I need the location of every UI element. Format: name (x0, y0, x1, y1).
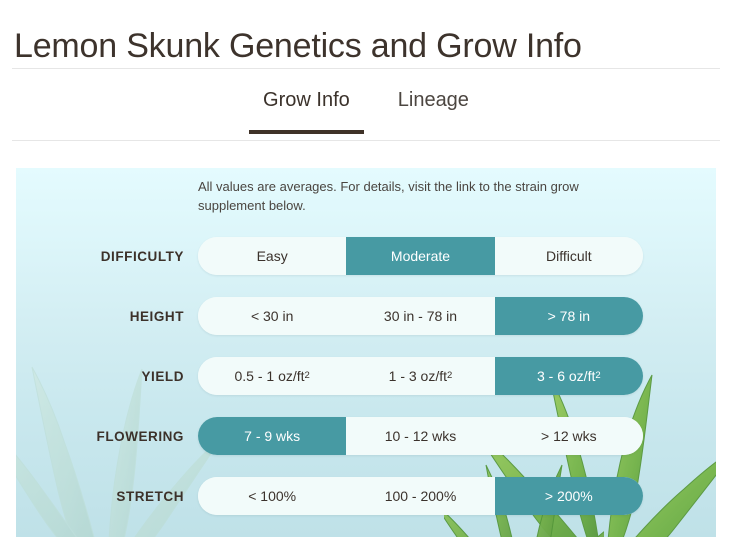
table-row: STRETCH < 100% 100 - 200% > 200% (16, 466, 716, 526)
panel-note: All values are averages. For details, vi… (198, 178, 628, 216)
segment-yield-0-text: 0.5 - 1 oz/ft (234, 368, 304, 384)
segment-difficulty-2[interactable]: Difficult (495, 237, 643, 275)
segment-yield-2-text: 3 - 6 oz/ft (537, 368, 595, 384)
segment-stretch-1[interactable]: 100 - 200% (346, 477, 494, 515)
table-row: YIELD 0.5 - 1 oz/ft2 1 - 3 oz/ft2 3 - 6 … (16, 346, 716, 406)
segment-bar-yield: 0.5 - 1 oz/ft2 1 - 3 oz/ft2 3 - 6 oz/ft2 (198, 357, 643, 395)
table-row: FLOWERING 7 - 9 wks 10 - 12 wks > 12 wks (16, 406, 716, 466)
segment-stretch-2[interactable]: > 200% (495, 477, 643, 515)
tab-lineage[interactable]: Lineage (374, 69, 493, 134)
segment-flowering-2[interactable]: > 12 wks (495, 417, 643, 455)
row-label-stretch: STRETCH (16, 489, 198, 504)
segment-stretch-0[interactable]: < 100% (198, 477, 346, 515)
segment-difficulty-0[interactable]: Easy (198, 237, 346, 275)
segment-difficulty-1[interactable]: Moderate (346, 237, 494, 275)
segment-bar-stretch: < 100% 100 - 200% > 200% (198, 477, 643, 515)
segment-bar-flowering: 7 - 9 wks 10 - 12 wks > 12 wks (198, 417, 643, 455)
tab-divider (12, 140, 720, 141)
grow-info-panel: All values are averages. For details, vi… (16, 168, 716, 537)
page-title: Lemon Skunk Genetics and Grow Info (14, 27, 582, 66)
segment-flowering-1[interactable]: 10 - 12 wks (346, 417, 494, 455)
segment-height-2[interactable]: > 78 in (495, 297, 643, 335)
segment-yield-1-text: 1 - 3 oz/ft (389, 368, 447, 384)
row-label-flowering: FLOWERING (16, 429, 198, 444)
table-row: HEIGHT < 30 in 30 in - 78 in > 78 in (16, 286, 716, 346)
tab-lineage-label: Lineage (398, 89, 469, 111)
segment-yield-2[interactable]: 3 - 6 oz/ft2 (495, 357, 643, 395)
row-label-height: HEIGHT (16, 309, 198, 324)
segment-height-1[interactable]: 30 in - 78 in (346, 297, 494, 335)
table-row: DIFFICULTY Easy Moderate Difficult (16, 226, 716, 286)
grow-attribute-rows: DIFFICULTY Easy Moderate Difficult HEIGH… (16, 226, 716, 526)
segment-flowering-0[interactable]: 7 - 9 wks (198, 417, 346, 455)
segment-yield-1[interactable]: 1 - 3 oz/ft2 (346, 357, 494, 395)
row-label-difficulty: DIFFICULTY (16, 249, 198, 264)
tab-grow-info-label: Grow Info (263, 89, 350, 111)
segment-bar-difficulty: Easy Moderate Difficult (198, 237, 643, 275)
segment-bar-height: < 30 in 30 in - 78 in > 78 in (198, 297, 643, 335)
tab-bar: Grow Info Lineage (12, 69, 720, 141)
tab-grow-info[interactable]: Grow Info (239, 69, 374, 134)
segment-yield-0[interactable]: 0.5 - 1 oz/ft2 (198, 357, 346, 395)
grow-info-page: Lemon Skunk Genetics and Grow Info Grow … (0, 0, 731, 537)
segment-height-0[interactable]: < 30 in (198, 297, 346, 335)
row-label-yield: YIELD (16, 369, 198, 384)
